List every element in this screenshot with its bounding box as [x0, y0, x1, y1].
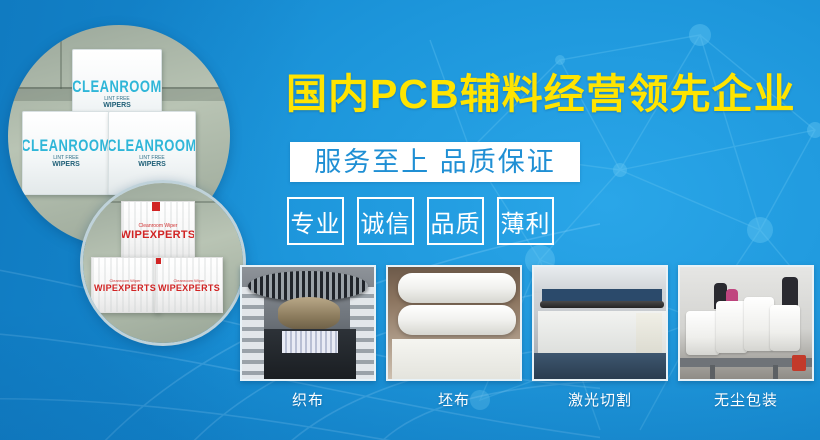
packet-sub2-label: WIPERS [52, 161, 80, 168]
cleanroom-packing-photo [678, 265, 814, 381]
laser-head-rail [540, 301, 664, 308]
table-leg-right [773, 365, 778, 379]
feature-tag-professional[interactable]: 专业 [287, 197, 344, 245]
worker-figure-right [782, 277, 798, 307]
promo-banner: CLEANROOM LINT FREE WIPERS CLEANROOM LIN… [0, 0, 820, 440]
feature-tag-integrity[interactable]: 诚信 [357, 197, 414, 245]
pack-brand-label: WIPEXPERTS [121, 229, 195, 241]
wall-seam [60, 25, 62, 89]
machine-drum [278, 297, 340, 331]
red-seal [155, 257, 161, 264]
knitting-machine-photo [240, 265, 376, 381]
wipexperts-pack-left: Cleanroom Wiper WIPEXPERTS [91, 257, 159, 313]
process-item-cleanroom-packing[interactable]: 无尘包装 [678, 265, 814, 410]
packet-brand-label: CLEANROOM [108, 136, 196, 155]
packet-brand-label: CLEANROOM [22, 136, 110, 155]
process-item-laser-cutting[interactable]: 激光切割 [532, 265, 668, 410]
process-photo-strip: 织布 坯布 激光切割 [240, 265, 814, 410]
laser-cutting-photo [532, 265, 668, 381]
process-caption: 无尘包装 [714, 389, 778, 410]
machine-base [534, 353, 668, 379]
wipe-bundle-4 [770, 305, 800, 351]
process-item-weaving[interactable]: 织布 [240, 265, 376, 410]
pack-brand-label: WIPEXPERTS [94, 283, 156, 293]
wipexperts-pack-top: Cleanroom Wiper WIPEXPERTS [121, 201, 195, 263]
wipexperts-photo: Cleanroom Wiper WIPEXPERTS Cleanroom Wip… [80, 180, 246, 346]
packet-brand-label: CLEANROOM [72, 77, 162, 96]
red-seal [152, 202, 160, 211]
wipexperts-pack-right: Cleanroom Wiper WIPEXPERTS [155, 257, 223, 313]
subtitle-text: 服务至上 品质保证 [314, 147, 556, 177]
process-caption: 坯布 [438, 389, 470, 410]
page-title: 国内PCB辅料经营领先企业 [286, 70, 796, 118]
process-item-greige-fabric[interactable]: 坯布 [386, 265, 522, 410]
fabric-output [282, 331, 338, 353]
table-leg-left [710, 365, 715, 379]
packet-sub2-label: WIPERS [138, 161, 166, 168]
fabric-sheet-bottom [392, 339, 520, 379]
yarn-cones-left [242, 287, 264, 379]
process-caption: 激光切割 [568, 389, 632, 410]
feature-tag-low-margin[interactable]: 薄利 [497, 197, 554, 245]
greige-fabric-rolls-photo [386, 265, 522, 381]
pack-brand-label: WIPEXPERTS [158, 283, 220, 293]
wipe-bundle-1 [686, 311, 720, 355]
feature-tag-list: 专业 诚信 品质 薄利 [287, 197, 554, 245]
subtitle-bar: 服务至上 品质保证 [290, 142, 580, 182]
fabric-roll-top [398, 273, 516, 303]
fabric-roll-middle [398, 305, 516, 335]
feature-tag-quality[interactable]: 品质 [427, 197, 484, 245]
process-caption: 织布 [292, 389, 324, 410]
packet-sub2-label: WIPERS [103, 102, 131, 109]
red-bucket [792, 355, 806, 371]
